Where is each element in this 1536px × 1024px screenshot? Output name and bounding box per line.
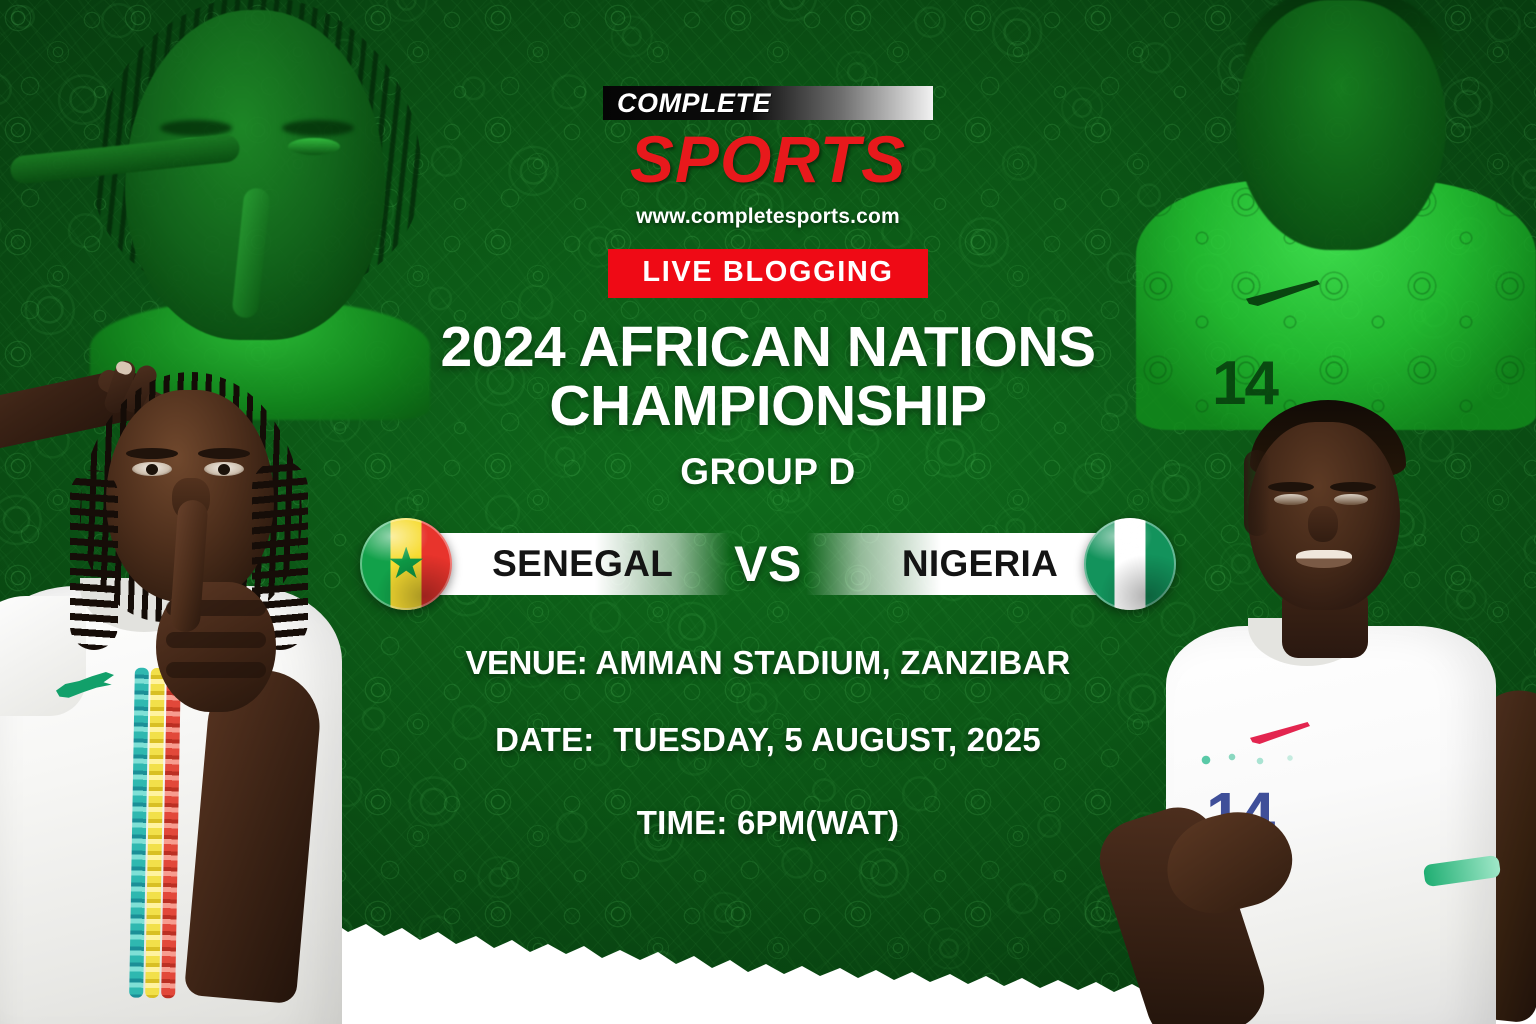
venue-line: VENUE: AMMAN STADIUM, ZANZIBAR [466, 646, 1071, 679]
date-label: DATE: [495, 721, 594, 758]
matchup-row: SENEGAL VS NIGERIA [368, 512, 1168, 616]
star-icon [389, 547, 423, 581]
versus-label: VS [734, 539, 802, 589]
background-ghost-player-right: 14 [1116, 0, 1536, 420]
home-team: SENEGAL [360, 518, 730, 610]
venue-value: AMMAN STADIUM, ZANZIBAR [595, 644, 1070, 681]
logo-complete-text: COMPLETE [603, 90, 771, 117]
time-line: TIME: 6PM(WAT) [637, 806, 900, 839]
senegal-player-photo: 9 [0, 350, 430, 1024]
time-value: 6PM(WAT) [737, 804, 899, 841]
senegal-flag-icon [360, 518, 452, 610]
time-label: TIME: [637, 804, 728, 841]
away-team: NIGERIA [806, 518, 1176, 610]
nigeria-flag-icon [1084, 518, 1176, 610]
group-label: GROUP D [680, 453, 856, 490]
page-title: 2024 AFRICAN NATIONS CHAMPIONSHIP [408, 318, 1128, 437]
website-url[interactable]: www.completesports.com [636, 206, 900, 227]
complete-sports-logo[interactable]: COMPLETE SPORTS [603, 86, 933, 192]
live-blogging-badge[interactable]: LIVE BLOGGING [608, 249, 927, 298]
nigeria-player-photo: 14 14 [1132, 390, 1536, 1024]
match-preview-poster: 14 9 [0, 0, 1536, 1024]
logo-sports-text: SPORTS [603, 126, 933, 192]
date-line: DATE: TUESDAY, 5 AUGUST, 2025 [495, 723, 1041, 756]
venue-label: VENUE: [466, 644, 588, 681]
away-team-name: NIGERIA [806, 533, 1106, 595]
logo-top-bar: COMPLETE [603, 86, 933, 120]
date-value: TUESDAY, 5 AUGUST, 2025 [613, 721, 1041, 758]
home-team-name: SENEGAL [430, 533, 730, 595]
